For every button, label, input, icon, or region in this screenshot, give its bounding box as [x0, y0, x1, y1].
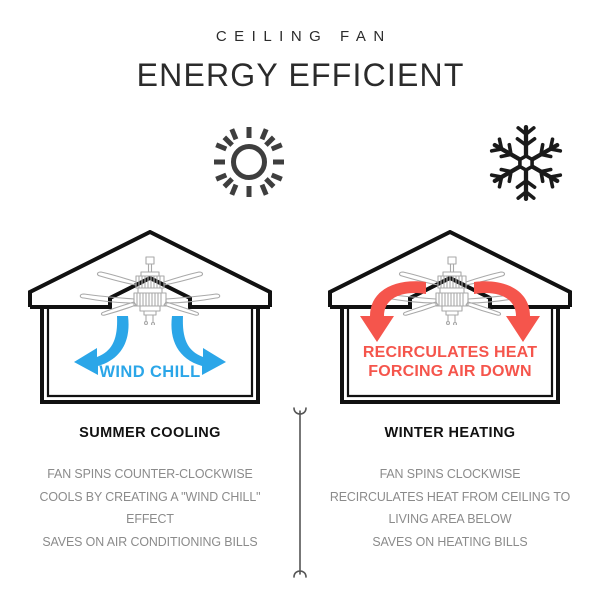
airflow-arrows-red — [300, 230, 600, 415]
panel-winter: RECIRCULATES HEAT FORCING AIR DOWN — [300, 230, 600, 415]
room-label-wind-chill: WIND CHILL — [0, 363, 300, 382]
caption-body-winter: FAN SPINS CLOCKWISE RECIRCULATES HEAT FR… — [309, 463, 591, 554]
room-label-line: RECIRCULATES HEAT — [300, 344, 600, 363]
caption-body-summer: FAN SPINS COUNTER-CLOCKWISE COOLS BY CRE… — [9, 463, 291, 554]
caption-line: SAVES ON AIR CONDITIONING BILLS — [9, 531, 291, 554]
eyebrow-title: CEILING FAN — [0, 28, 600, 45]
room-label-line: FORCING AIR DOWN — [300, 363, 600, 382]
caption-line: SAVES ON HEATING BILLS — [309, 531, 591, 554]
room-label-line: WIND CHILL — [0, 363, 300, 382]
page-title: ENERGY EFFICIENT — [0, 57, 600, 94]
caption-title-winter: WINTER HEATING — [300, 425, 600, 441]
caption-summer: SUMMER COOLING FAN SPINS COUNTER-CLOCKWI… — [0, 425, 300, 554]
sun-icon — [212, 125, 286, 199]
airflow-arrows-blue — [0, 230, 300, 415]
caption-line: EFFECT — [9, 508, 291, 531]
infographic-canvas: CEILING FAN ENERGY EFFICIENT — [0, 0, 600, 600]
caption-line: FAN SPINS CLOCKWISE — [309, 463, 591, 486]
caption-title-summer: SUMMER COOLING — [0, 425, 300, 441]
caption-line: FAN SPINS COUNTER-CLOCKWISE — [9, 463, 291, 486]
caption-line: LIVING AREA BELOW — [309, 508, 591, 531]
snowflake-icon — [487, 124, 565, 202]
header: CEILING FAN ENERGY EFFICIENT — [0, 0, 600, 94]
caption-winter: WINTER HEATING FAN SPINS CLOCKWISE RECIR… — [300, 425, 600, 554]
caption-line: RECIRCULATES HEAT FROM CEILING TO — [309, 486, 591, 509]
room-label-recirculates-heat: RECIRCULATES HEAT FORCING AIR DOWN — [300, 344, 600, 382]
caption-line: COOLS BY CREATING A "WIND CHILL" — [9, 486, 291, 509]
panel-summer: WIND CHILL — [0, 230, 300, 415]
